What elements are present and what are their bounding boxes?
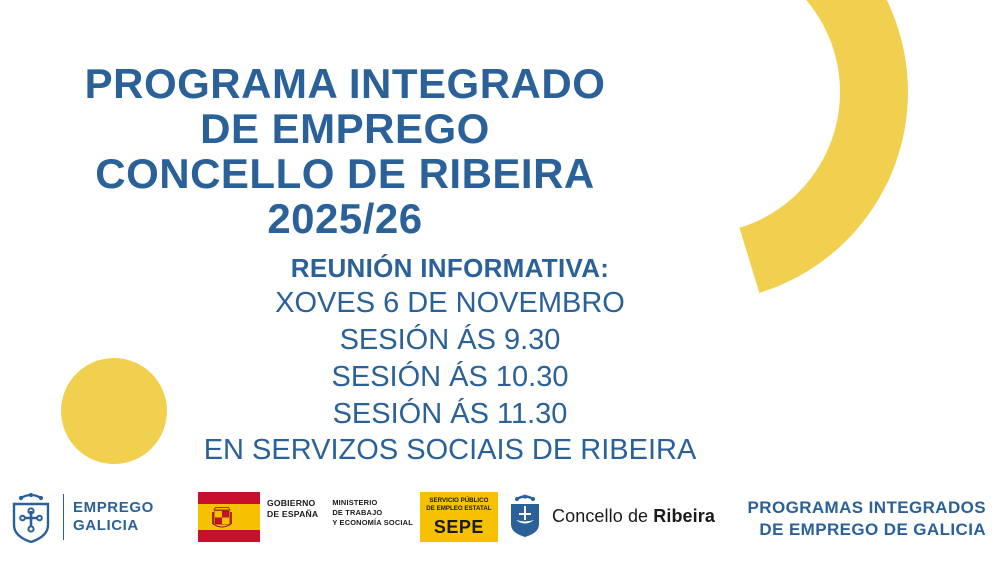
- title-line-1: PROGRAMA INTEGRADO: [0, 62, 690, 107]
- programas-line-2: DE EMPREGO DE GALICIA: [748, 519, 986, 541]
- gobierno-line-2: DE ESPAÑA: [267, 509, 318, 520]
- logo-sepe: SERVICIO PÚBLICO DE EMPLEO ESTATAL SEPE: [420, 492, 498, 542]
- gobierno-line-1: GOBIERNO: [267, 498, 318, 509]
- meeting-heading: REUNIÓN INFORMATIVA:: [0, 252, 900, 285]
- meeting-details: REUNIÓN INFORMATIVA: XOVES 6 DE NOVEMBRO…: [0, 252, 900, 469]
- meeting-venue: EN SERVIZOS SOCIAIS DE RIBEIRA: [0, 432, 900, 469]
- gobierno-text-block: GOBIERNO DE ESPAÑA: [260, 492, 325, 542]
- ministerio-text-block: MINISTERIO DE TRABAJO Y ECONOMÍA SOCIAL: [325, 492, 420, 542]
- sepe-line-2: DE EMPLEO ESTATAL: [424, 505, 494, 513]
- concello-text-bold: Ribeira: [653, 506, 715, 526]
- emprego-galicia-line-1: EMPREGO: [73, 499, 154, 517]
- concello-wordmark: Concello de Ribeira: [552, 506, 715, 527]
- logo-divider: [63, 494, 64, 540]
- title-line-4: 2025/26: [0, 197, 690, 242]
- logo-emprego-galicia: EMPREGO GALICIA: [8, 491, 154, 543]
- sepe-line-1: SERVICIO PÚBLICO: [424, 497, 494, 505]
- emprego-galicia-line-2: GALICIA: [73, 517, 154, 535]
- session-time-1: SESIÓN ÁS 9.30: [0, 322, 900, 359]
- meeting-date: XOVES 6 DE NOVEMBRO: [0, 285, 900, 322]
- title-line-3: CONCELLO DE RIBEIRA: [0, 152, 690, 197]
- spain-coat-of-arms-icon: [211, 505, 233, 530]
- spain-flag-block: [198, 492, 260, 542]
- logo-concello-de-ribeira: Concello de Ribeira: [508, 494, 715, 538]
- sepe-wordmark: SEPE: [420, 517, 498, 538]
- poster-canvas: PROGRAMA INTEGRADO DE EMPREGO CONCELLO D…: [0, 0, 1000, 563]
- session-time-2: SESIÓN ÁS 10.30: [0, 359, 900, 396]
- title-line-2: DE EMPREGO: [0, 107, 690, 152]
- arc-mask-decoration: [470, 0, 590, 60]
- concello-ribeira-crest-icon: [508, 494, 542, 538]
- programas-line-1: PROGRAMAS INTEGRADOS: [748, 497, 986, 519]
- ministerio-line-3: Y ECONOMÍA SOCIAL: [332, 518, 413, 528]
- session-time-3: SESIÓN ÁS 11.30: [0, 396, 900, 433]
- logo-gobierno-de-espana: GOBIERNO DE ESPAÑA MINISTERIO DE TRABAJO…: [198, 492, 498, 542]
- page-title: PROGRAMA INTEGRADO DE EMPREGO CONCELLO D…: [0, 62, 690, 242]
- footer-logo-strip: EMPREGO GALICIA: [0, 480, 1000, 563]
- xunta-galicia-shield-icon: [8, 491, 54, 543]
- concello-text-normal: Concello de: [552, 506, 653, 526]
- ministerio-line-1: MINISTERIO: [332, 498, 413, 508]
- ministerio-line-2: DE TRABAJO: [332, 508, 413, 518]
- programas-integrados-label: PROGRAMAS INTEGRADOS DE EMPREGO DE GALIC…: [748, 497, 986, 542]
